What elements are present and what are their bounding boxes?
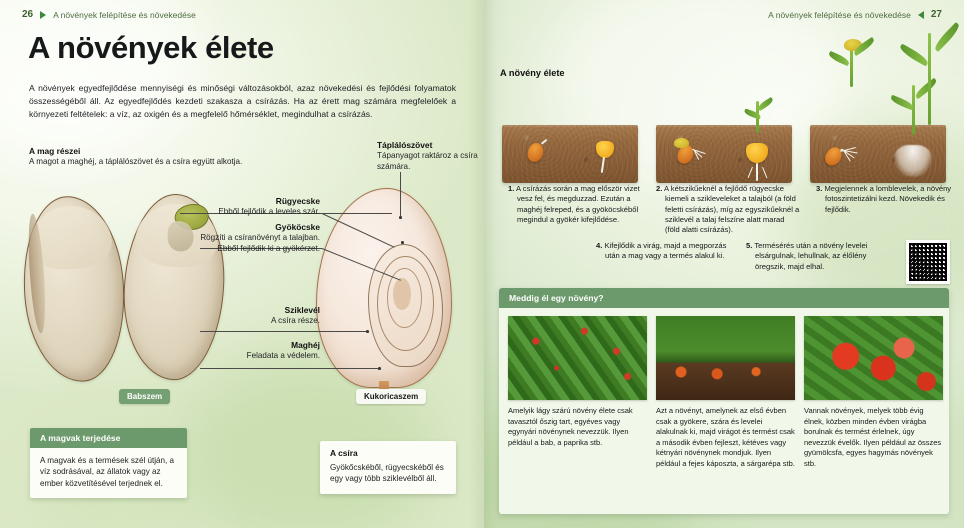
section-title: A növény élete	[500, 68, 565, 78]
carrot-field-photo	[656, 316, 795, 400]
bean-seed-half-left	[18, 193, 131, 386]
step-4-number: 4.	[596, 241, 602, 250]
step-3-number: 3.	[816, 184, 822, 193]
step-4-text: Kifejlődik a virág, majd a megporzás utá…	[604, 241, 726, 260]
step-item-5: 5. Termésérés után a növény levelei elsá…	[746, 241, 896, 272]
label-taplaloszovet-text: Tápanyagot raktároz a csíra számára.	[377, 151, 481, 173]
specimen-tag-bean: Babszem	[119, 389, 170, 404]
corn-seed-stage-2	[746, 143, 768, 163]
page-title: A növények élete	[28, 30, 274, 66]
callout-magvak-terjedese-heading: A magvak terjedése	[30, 428, 187, 448]
label-mag-reszei: A mag részei A magot a maghéj, a tápláló…	[29, 146, 329, 168]
bean-plant-photo	[508, 316, 647, 400]
lifespan-panel-body: Amelyik lágy szárú növény élete csak tav…	[499, 308, 949, 479]
soil-block-stage-3	[810, 125, 946, 183]
bean-seed-stage-1	[525, 141, 546, 164]
label-rugyecske: Rügyecske Ebből fejlődik a leveles szár.	[178, 196, 320, 218]
label-sziklevel-text: A csíra része.	[186, 316, 320, 327]
corn-seed-stage-1	[596, 141, 614, 158]
triangle-right-icon	[40, 11, 46, 19]
folio-right: 27	[931, 9, 942, 20]
right-page: A növények felépítése és növekedése 27 A…	[484, 0, 964, 528]
root-system-stage-3	[894, 145, 932, 177]
specimen-tag-corn: Kukoricaszem	[356, 389, 426, 404]
lifespan-annual-text: Amelyik lágy szárú növény élete csak tav…	[508, 400, 647, 448]
step-3-text: Megjelennek a lomblevelek, a növény foto…	[824, 184, 951, 214]
callout-a-csira-heading: A csíra	[330, 448, 446, 460]
lifespan-column-annual: Amelyik lágy szárú növény élete csak tav…	[508, 316, 647, 469]
step-item-2: 2. A kétszikűeknél a fejlődő rügyecske k…	[656, 184, 801, 236]
soil-block-stage-2	[656, 125, 792, 183]
lifespan-panel-heading: Meddig él egy növény?	[499, 288, 949, 308]
lifespan-biennial-text: Azt a növényt, amelynek az első évben cs…	[656, 400, 795, 469]
shoot-stage-3	[912, 85, 915, 135]
triangle-left-icon	[918, 11, 924, 19]
running-head-left: 26 A növények felépítése és növekedése	[22, 9, 196, 20]
step-1-number: 1.	[508, 184, 514, 193]
label-maghej: Maghéj Feladata a védelem.	[186, 340, 320, 362]
soil-block-stage-1	[502, 125, 638, 183]
apple-tree-photo	[804, 316, 943, 400]
label-maghej-text: Feladata a védelem.	[186, 351, 320, 362]
qr-code[interactable]	[906, 240, 950, 284]
step-5-text: Termésérés után a növény levelei elsárgu…	[754, 241, 867, 271]
callout-a-csira-body: A csíra Gyökőcskéből, rügyecskéből és eg…	[320, 441, 456, 494]
lifespan-perennial-text: Vannak növények, melyek több évig élnek,…	[804, 400, 943, 469]
callout-magvak-terjedese-text: A magvak és a termések szél útján, a víz…	[30, 448, 187, 498]
intro-paragraph: A növények egyedfejlődése mennyiségi és …	[29, 82, 456, 121]
book-spread: 26 A növények felépítése és növekedése A…	[0, 0, 964, 528]
label-taplaloszovet-title: Táplálószövet	[377, 140, 481, 150]
running-head-right-label: A növények felépítése és növekedése	[768, 10, 911, 20]
label-maghej-title: Maghéj	[186, 340, 320, 350]
label-gyokocske-title: Gyököcske	[178, 222, 320, 232]
step-item-3: 3. Megjelennek a lomblevelek, a növény f…	[816, 184, 956, 215]
label-mag-reszei-text: A magot a maghéj, a táplálószövet és a c…	[29, 157, 329, 168]
label-gyokocske: Gyököcske Rögzíti a csíranövényt a talaj…	[178, 222, 320, 255]
callout-a-csira: A csíra Gyökőcskéből, rügyecskéből és eg…	[320, 441, 456, 494]
folio-left: 26	[22, 9, 33, 20]
label-rugyecske-title: Rügyecske	[178, 196, 320, 206]
left-page: 26 A növények felépítése és növekedése A…	[0, 0, 484, 528]
step-2-text: A kétszikűeknél a fejlődő rügyecske kiem…	[664, 184, 799, 234]
label-sziklevel: Sziklevél A csíra része.	[186, 305, 320, 327]
step-item-4: 4. Kifejlődik a virág, majd a megporzás …	[596, 241, 731, 262]
callout-magvak-terjedese: A magvak terjedése A magvak és a termése…	[30, 428, 187, 498]
corn-kernel-cross-section	[316, 188, 452, 388]
running-head-left-label: A növények felépítése és növekedése	[53, 10, 196, 20]
lifespan-column-biennial: Azt a növényt, amelynek az első évben cs…	[656, 316, 795, 469]
lifespan-column-perennial: Vannak növények, melyek több évig élnek,…	[804, 316, 943, 469]
label-rugyecske-text: Ebből fejlődik a leveles szár.	[178, 207, 320, 218]
step-item-1: 1. A csírázás során a mag először vizet …	[508, 184, 643, 225]
callout-a-csira-text: Gyökőcskéből, rügyecskéből és egy vagy t…	[330, 463, 444, 483]
step-5-number: 5.	[746, 241, 752, 250]
label-sziklevel-title: Sziklevél	[186, 305, 320, 315]
lifespan-panel: Meddig él egy növény? Amelyik lágy szárú…	[499, 288, 949, 514]
running-head-right: A növények felépítése és növekedése 27	[768, 9, 942, 20]
label-taplaloszovet: Táplálószövet Tápanyagot raktároz a csír…	[377, 140, 481, 173]
step-1-text: A csírázás során a mag először vizet ves…	[516, 184, 640, 224]
label-gyokocske-text: Rögzíti a csíranövényt a talajban. Ebből…	[178, 233, 320, 255]
seedling-tall-stem	[928, 33, 931, 125]
germination-illustration-row	[498, 95, 950, 183]
step-2-number: 2.	[656, 184, 662, 193]
label-mag-reszei-title: A mag részei	[29, 146, 329, 156]
